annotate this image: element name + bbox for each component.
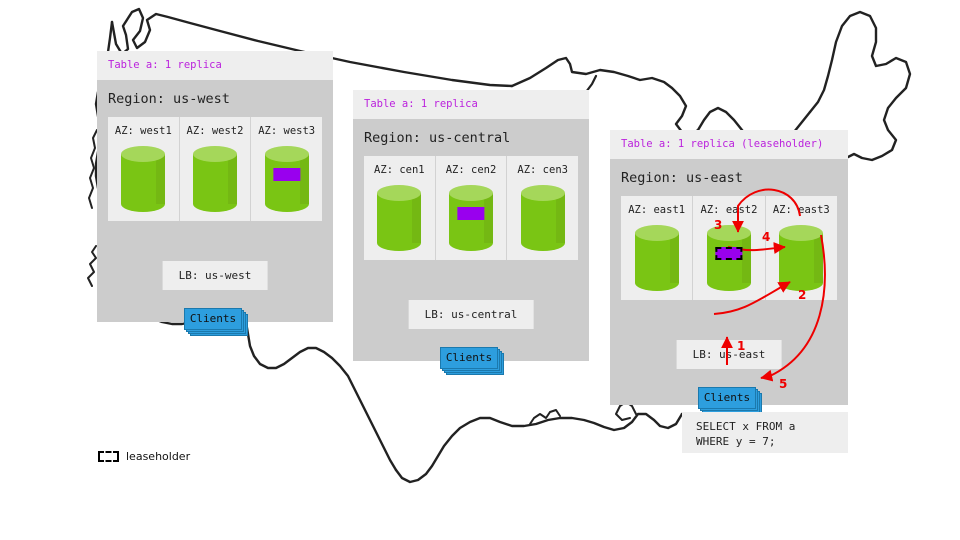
cylinder-shading xyxy=(670,233,679,283)
node-cylinder-cen3[interactable] xyxy=(521,185,565,251)
region-name-us-east: Region: us-east xyxy=(610,159,848,196)
cylinder-top xyxy=(121,146,165,162)
az-row-us-central: AZ: cen1 AZ: cen2 xyxy=(364,156,578,260)
clients-label-us-central: Clients xyxy=(440,347,498,369)
cylinder-top xyxy=(377,185,421,201)
load-balancer-us-west[interactable]: LB: us-west xyxy=(163,261,268,290)
az-west1[interactable]: AZ: west1 xyxy=(108,117,180,221)
cylinder-top xyxy=(635,225,679,241)
flow-step-number-4: 4 xyxy=(762,230,770,244)
az-east3[interactable]: AZ: east3 xyxy=(766,196,837,300)
region-name-us-central: Region: us-central xyxy=(353,119,589,156)
leaseholder-replica-marker-east2 xyxy=(715,247,742,260)
cylinder-shading xyxy=(300,154,309,204)
az-east2-label: AZ: east2 xyxy=(693,204,764,216)
replica-marker-cen2 xyxy=(457,207,484,220)
az-cen2-label: AZ: cen2 xyxy=(436,164,507,176)
az-west1-label: AZ: west1 xyxy=(108,125,179,137)
az-east2[interactable]: AZ: east2 xyxy=(693,196,765,300)
flow-step-number-3: 3 xyxy=(714,218,722,232)
cylinder-top xyxy=(193,146,237,162)
az-row-us-east: AZ: east1 AZ: east2 xyxy=(621,196,837,300)
node-cylinder-east3[interactable] xyxy=(779,225,823,291)
clients-label-us-west: Clients xyxy=(184,308,242,330)
az-cen1-label: AZ: cen1 xyxy=(364,164,435,176)
region-table-title-us-central: Table a: 1 replica xyxy=(353,90,589,119)
flow-step-number-5: 5 xyxy=(779,377,787,391)
az-cen1[interactable]: AZ: cen1 xyxy=(364,156,436,260)
az-row-us-west: AZ: west1 AZ: west2 xyxy=(108,117,322,221)
clients-label-us-east: Clients xyxy=(698,387,756,409)
az-east1[interactable]: AZ: east1 xyxy=(621,196,693,300)
az-cen3-label: AZ: cen3 xyxy=(507,164,578,176)
cylinder-shading xyxy=(412,193,421,243)
az-west2[interactable]: AZ: west2 xyxy=(180,117,252,221)
node-cylinder-west1[interactable] xyxy=(121,146,165,212)
cylinder-shading xyxy=(814,233,823,283)
load-balancer-us-east[interactable]: LB: us-east xyxy=(677,340,782,369)
az-west2-label: AZ: west2 xyxy=(180,125,251,137)
az-cen3[interactable]: AZ: cen3 xyxy=(507,156,578,260)
replica-marker-west3 xyxy=(273,168,300,181)
az-east1-label: AZ: east1 xyxy=(621,204,692,216)
cylinder-top xyxy=(265,146,309,162)
region-table-title-us-east: Table a: 1 replica (leaseholder) xyxy=(610,130,848,159)
az-west3[interactable]: AZ: west3 xyxy=(251,117,322,221)
dashed-rect-icon xyxy=(98,451,119,462)
node-cylinder-cen1[interactable] xyxy=(377,185,421,251)
node-cylinder-east2[interactable] xyxy=(707,225,751,291)
cylinder-shading xyxy=(556,193,565,243)
flow-step-number-2: 2 xyxy=(798,288,806,302)
az-east3-label: AZ: east3 xyxy=(766,204,837,216)
cylinder-top xyxy=(449,185,493,201)
cylinder-shading xyxy=(228,154,237,204)
region-body-us-central: Region: us-central AZ: cen1 AZ: cen2 xyxy=(353,119,589,361)
clients-us-east[interactable]: Clients xyxy=(698,387,760,411)
load-balancer-us-central[interactable]: LB: us-central xyxy=(409,300,534,329)
az-west3-label: AZ: west3 xyxy=(251,125,322,137)
diagram-canvas: Table a: 1 replica Region: us-west AZ: w… xyxy=(0,0,960,540)
cylinder-top xyxy=(521,185,565,201)
legend-label: leaseholder xyxy=(126,450,190,463)
region-table-title-us-west: Table a: 1 replica xyxy=(97,51,333,80)
clients-us-central[interactable]: Clients xyxy=(440,347,502,371)
region-body-us-west: Region: us-west AZ: west1 AZ: west2 xyxy=(97,80,333,322)
region-panel-us-central: Table a: 1 replica Region: us-central AZ… xyxy=(353,90,589,361)
region-name-us-west: Region: us-west xyxy=(97,80,333,117)
node-cylinder-cen2[interactable] xyxy=(449,185,493,251)
cylinder-shading xyxy=(484,193,493,243)
region-body-us-east: Region: us-east AZ: east1 AZ: east2 xyxy=(610,159,848,405)
node-cylinder-east1[interactable] xyxy=(635,225,679,291)
flow-step-number-1: 1 xyxy=(737,339,745,353)
legend-leaseholder: leaseholder xyxy=(98,450,190,463)
sql-statement-box: SELECT x FROM a WHERE y = 7; xyxy=(682,412,848,453)
clients-us-west[interactable]: Clients xyxy=(184,308,246,332)
az-cen2[interactable]: AZ: cen2 xyxy=(436,156,508,260)
node-cylinder-west3[interactable] xyxy=(265,146,309,212)
cylinder-top xyxy=(779,225,823,241)
cylinder-shading xyxy=(156,154,165,204)
node-cylinder-west2[interactable] xyxy=(193,146,237,212)
region-panel-us-west: Table a: 1 replica Region: us-west AZ: w… xyxy=(97,51,333,322)
region-panel-us-east: Table a: 1 replica (leaseholder) Region:… xyxy=(610,130,848,405)
cylinder-shading xyxy=(742,233,751,283)
